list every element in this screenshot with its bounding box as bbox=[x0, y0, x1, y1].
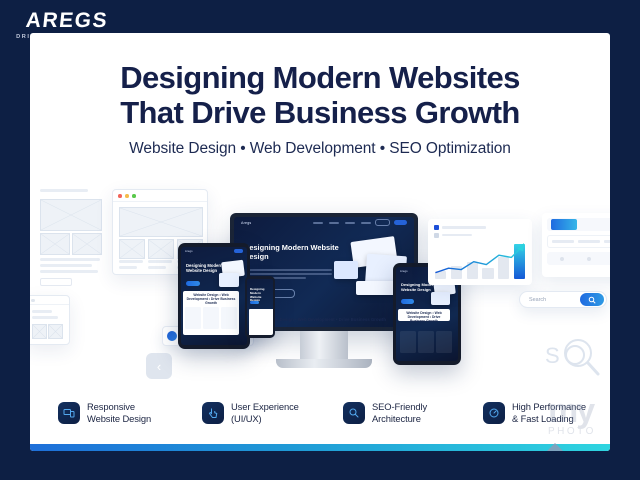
wireframe-text-line bbox=[32, 316, 58, 319]
wireframe-tile-placeholder bbox=[40, 233, 70, 255]
settings-panel-card bbox=[542, 213, 610, 277]
panel-dot-row bbox=[547, 252, 610, 265]
brand-name: AREGS bbox=[11, 10, 123, 31]
bottom-accent-bar bbox=[30, 444, 610, 451]
search-button[interactable] bbox=[580, 293, 604, 306]
strip-title: Website Design • Web Development • Drive… bbox=[398, 309, 450, 323]
strip-card bbox=[203, 307, 219, 329]
mock-site-logo: Aregs bbox=[185, 250, 193, 253]
back-navigation-button[interactable]: ‹ bbox=[146, 353, 172, 379]
wireframe-tile-placeholder bbox=[72, 233, 102, 255]
monitor-base bbox=[276, 359, 372, 368]
wireframe-button-placeholder bbox=[40, 278, 72, 286]
browser-hero-placeholder bbox=[119, 207, 203, 237]
mock-login-button[interactable] bbox=[375, 219, 390, 226]
strip-card bbox=[418, 331, 434, 353]
seo-graphic: S bbox=[545, 331, 603, 377]
legend-label bbox=[442, 226, 486, 229]
phone-screen: Designing Modern Website Design bbox=[247, 279, 273, 335]
active-tab[interactable] bbox=[551, 219, 577, 230]
mock-nav-links bbox=[313, 222, 371, 224]
wireframe-text-line bbox=[40, 270, 98, 273]
mock-site-heading: Designing Modern Website Design bbox=[244, 243, 339, 262]
wireframe-label-bar bbox=[40, 189, 88, 192]
chart-legend-item bbox=[434, 233, 526, 238]
status-dot bbox=[560, 257, 564, 261]
hero-title-line-1: Designing Modern Websites bbox=[30, 61, 610, 96]
wireframe-text-line bbox=[40, 258, 100, 261]
phone-mockup: Designing Modern Website Design bbox=[245, 276, 275, 338]
legend-swatch bbox=[434, 225, 439, 230]
field-label bbox=[604, 240, 610, 243]
hero-title-line-2: That Drive Business Growth bbox=[30, 96, 610, 131]
status-dot bbox=[587, 257, 591, 261]
illustration-card bbox=[431, 292, 450, 305]
mock-content-strip bbox=[249, 309, 273, 335]
mock-site-heading: Designing Modern Website Design bbox=[186, 263, 226, 274]
analytics-chart-card bbox=[428, 219, 532, 285]
window-close-dot bbox=[118, 194, 122, 198]
wireframe-text-line bbox=[40, 264, 92, 267]
nav-link[interactable] bbox=[345, 222, 355, 224]
chevron-left-icon: ‹ bbox=[157, 359, 161, 374]
mock-site-logo: Aregs bbox=[400, 270, 408, 273]
monitor-neck bbox=[300, 331, 348, 361]
wireframe-text-line bbox=[32, 310, 52, 313]
poster-canvas: AREGS DRIVE DIGITAL SUCCESS Designing Mo… bbox=[0, 0, 640, 480]
panel-tab-row[interactable] bbox=[547, 218, 610, 231]
avatar bbox=[167, 331, 177, 341]
mock-signup-button[interactable] bbox=[234, 249, 243, 253]
window-minimize-dot bbox=[125, 194, 129, 198]
responsive-devices-icon bbox=[58, 402, 80, 424]
browser-tile-placeholder bbox=[119, 239, 145, 259]
svg-text:S: S bbox=[545, 343, 560, 368]
browser-text-line bbox=[148, 266, 166, 269]
feature-label: SEO-FriendlyArchitecture bbox=[372, 401, 427, 425]
illustration-card bbox=[356, 281, 396, 295]
mock-site-navbar: Aregs bbox=[181, 247, 247, 255]
strip-card bbox=[400, 331, 416, 353]
search-input[interactable]: Search bbox=[529, 297, 546, 303]
panel-field-row[interactable] bbox=[547, 235, 610, 248]
content-card: Designing Modern Websites That Drive Bus… bbox=[30, 33, 610, 451]
feature-item-seo[interactable]: SEO-FriendlyArchitecture bbox=[343, 401, 483, 425]
touch-pointer-icon bbox=[202, 402, 224, 424]
window-maximize-dot bbox=[132, 194, 136, 198]
browser-text-line bbox=[148, 260, 172, 263]
browser-text-line bbox=[119, 266, 137, 269]
nav-link[interactable] bbox=[313, 222, 323, 224]
field-label bbox=[552, 240, 574, 243]
feature-label: User Experience(UI/UX) bbox=[231, 401, 299, 425]
browser-title-bar bbox=[30, 296, 69, 305]
tablet-screen: Aregs Designing Modern Website Design We… bbox=[181, 247, 247, 345]
strip-card-row bbox=[249, 309, 273, 317]
tablet-mockup-left: Aregs Designing Modern Website Design We… bbox=[178, 243, 250, 349]
mock-content-strip: Website Design • Web Development • Drive… bbox=[398, 309, 450, 321]
strip-card bbox=[185, 307, 201, 329]
illustration-card bbox=[334, 261, 358, 279]
mock-site-logo: Aregs bbox=[241, 221, 251, 225]
feature-list: ResponsiveWebsite Design User Experience… bbox=[58, 401, 610, 425]
mock-signup-button[interactable] bbox=[394, 220, 407, 225]
mock-primary-cta[interactable] bbox=[401, 299, 414, 304]
browser-tile-placeholder bbox=[148, 239, 174, 259]
hero-text-block: Designing Modern Websites That Drive Bus… bbox=[30, 61, 610, 158]
wireframe-small-window bbox=[30, 295, 70, 345]
mock-primary-cta[interactable] bbox=[186, 281, 200, 286]
wireframe-tile-placeholder bbox=[32, 324, 47, 339]
accent-notch bbox=[547, 443, 563, 451]
window-close-dot bbox=[31, 299, 35, 303]
strip-card-row bbox=[183, 305, 239, 331]
feature-item-responsive[interactable]: ResponsiveWebsite Design bbox=[58, 401, 202, 425]
mock-content-strip: Website Design • Web Development • Drive… bbox=[183, 291, 239, 335]
chart-legend-item bbox=[434, 225, 526, 230]
nav-link[interactable] bbox=[329, 222, 339, 224]
mock-primary-cta[interactable] bbox=[250, 301, 259, 304]
wireframe-tile-placeholder bbox=[48, 324, 63, 339]
hero-subtitle: Website Design • Web Development • SEO O… bbox=[30, 140, 610, 158]
feature-label: ResponsiveWebsite Design bbox=[87, 401, 151, 425]
magnifier-icon bbox=[343, 402, 365, 424]
strip-card-row bbox=[398, 329, 454, 355]
legend-label bbox=[442, 234, 472, 237]
feature-item-ux[interactable]: User Experience(UI/UX) bbox=[202, 401, 343, 425]
mock-site-navbar: Aregs bbox=[234, 217, 414, 228]
legend-swatch bbox=[434, 233, 439, 238]
search-bar[interactable]: Search bbox=[519, 291, 607, 308]
strip-card bbox=[436, 331, 452, 353]
strip-card bbox=[221, 307, 237, 329]
device-showcase: › ‹ Aregs bbox=[30, 181, 610, 396]
illustration-card bbox=[219, 273, 239, 287]
chart-trend-line bbox=[435, 241, 525, 279]
speedometer-icon bbox=[483, 402, 505, 424]
nav-link[interactable] bbox=[361, 222, 371, 224]
feature-item-performance[interactable]: High Performance& Fast Loading bbox=[483, 401, 586, 425]
seo-magnifier-icon: S bbox=[545, 331, 603, 377]
chart-plot-area bbox=[435, 241, 525, 279]
feature-label: High Performance& Fast Loading bbox=[512, 401, 586, 425]
search-icon bbox=[588, 296, 596, 304]
wireframe-hero-placeholder bbox=[40, 199, 102, 231]
strip-title: Website Design • Web Development • Drive… bbox=[183, 291, 239, 305]
browser-title-bar bbox=[113, 190, 207, 202]
field-label bbox=[578, 240, 600, 243]
browser-text-line bbox=[119, 260, 143, 263]
